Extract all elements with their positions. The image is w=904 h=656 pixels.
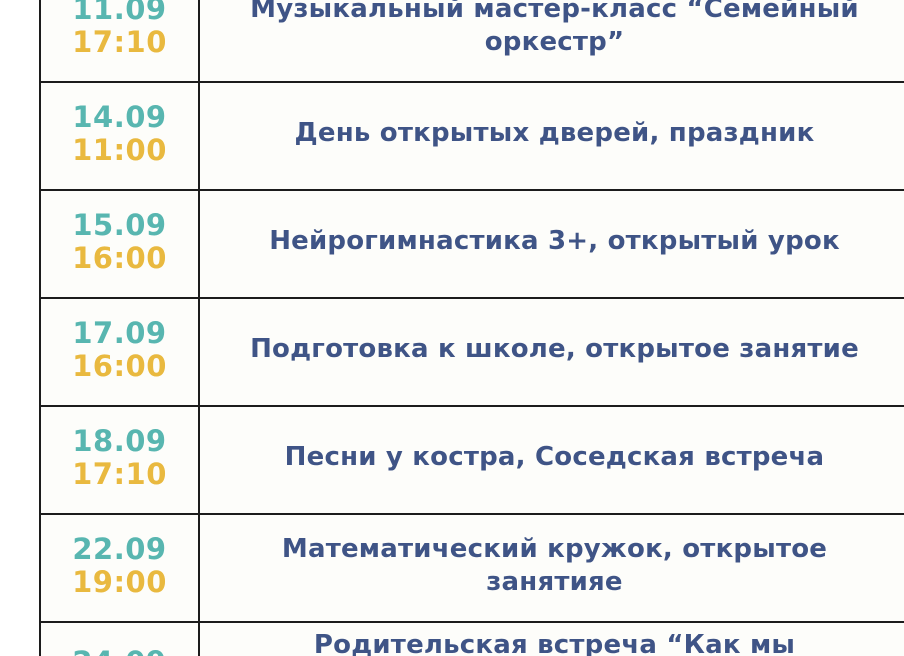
event-date: 15.09: [41, 209, 198, 242]
event-when-cell: 14.09 11:00: [40, 82, 199, 190]
event-when-cell: 11.09 17:10: [40, 0, 199, 82]
schedule-table-body: 11.09 17:10 Музыкальный мастер-класс “Се…: [40, 0, 904, 656]
event-title-line-1: День открытых дверей, праздник: [222, 117, 887, 150]
table-row[interactable]: 15.09 16:00 Нейрогимнастика 3+, открытый…: [40, 190, 904, 298]
event-title-cell: День открытых дверей, праздник: [199, 82, 904, 190]
table-row[interactable]: 24.09 18:00 Родительская встреча “Как мы…: [40, 622, 904, 656]
event-time: 19:00: [41, 566, 198, 599]
event-time: 16:00: [41, 242, 198, 275]
event-when-cell: 22.09 19:00: [40, 514, 199, 622]
event-title-line-1: Музыкальный мастер-класс “Семейный оркес…: [222, 0, 887, 59]
event-date: 18.09: [41, 425, 198, 458]
table-row[interactable]: 18.09 17:10 Песни у костра, Соседская вс…: [40, 406, 904, 514]
table-row[interactable]: 14.09 11:00 День открытых дверей, праздн…: [40, 82, 904, 190]
event-when-cell: 17.09 16:00: [40, 298, 199, 406]
schedule-viewport: 11.09 17:10 Музыкальный мастер-класс “Се…: [0, 0, 904, 656]
event-time: 16:00: [41, 350, 198, 383]
event-date: 22.09: [41, 533, 198, 566]
event-time: 17:10: [41, 26, 198, 59]
event-title-line-1: Подготовка к школе, открытое занятие: [222, 333, 887, 366]
event-when-cell: 18.09 17:10: [40, 406, 199, 514]
event-title-line-1: Нейрогимнастика 3+, открытый урок: [222, 225, 887, 258]
event-title-line-1: Математический кружок, открытое занятияе: [222, 533, 887, 600]
event-date: 24.09: [41, 646, 198, 656]
table-row[interactable]: 22.09 19:00 Математический кружок, откры…: [40, 514, 904, 622]
event-time: 11:00: [41, 134, 198, 167]
event-title-cell: Нейрогимнастика 3+, открытый урок: [199, 190, 904, 298]
table-row[interactable]: 11.09 17:10 Музыкальный мастер-класс “Се…: [40, 0, 904, 82]
event-title-cell: Родительская встреча “Как мы используем …: [199, 622, 904, 656]
event-title-cell: Песни у костра, Соседская встреча: [199, 406, 904, 514]
table-row[interactable]: 17.09 16:00 Подготовка к школе, открытое…: [40, 298, 904, 406]
event-date: 11.09: [41, 0, 198, 26]
event-title-cell: Математический кружок, открытое занятияе: [199, 514, 904, 622]
event-time: 17:10: [41, 458, 198, 491]
event-title-cell: Музыкальный мастер-класс “Семейный оркес…: [199, 0, 904, 82]
event-date: 14.09: [41, 101, 198, 134]
schedule-table: 11.09 17:10 Музыкальный мастер-класс “Се…: [39, 0, 904, 656]
event-title-cell: Подготовка к школе, открытое занятие: [199, 298, 904, 406]
event-when-cell: 15.09 16:00: [40, 190, 199, 298]
event-date: 17.09: [41, 317, 198, 350]
event-title-line-1: Песни у костра, Соседская встреча: [222, 441, 887, 474]
event-when-cell: 24.09 18:00: [40, 622, 199, 656]
event-title-line-1: Родительская встреча “Как мы используем: [222, 629, 887, 656]
schedule-page: 11.09 17:10 Музыкальный мастер-класс “Се…: [0, 0, 904, 656]
